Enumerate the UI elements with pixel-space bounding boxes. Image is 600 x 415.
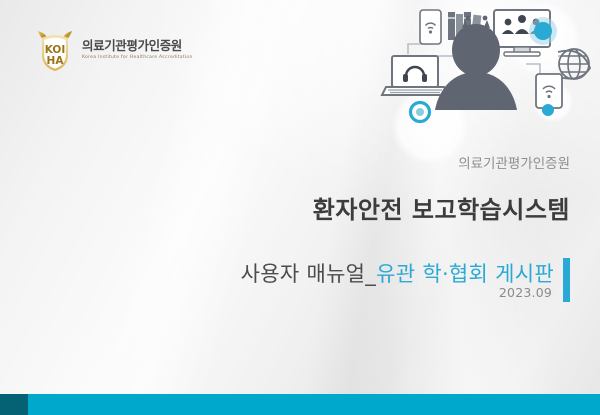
tablet-wifi-icon xyxy=(536,74,562,108)
manual-target: 유관 학·협회 게시판 xyxy=(376,262,554,286)
presentation-cover-slide: KOI HA 의료기관평가인증원 Korea Institute for Hea… xyxy=(0,0,600,415)
accent-bar xyxy=(563,258,570,302)
manual-heading: 사용자 매뉴얼_유관 학·협회 게시판 xyxy=(241,258,554,288)
connected-devices-illustration xyxy=(372,0,600,146)
logo-english-name: Korea Institute for Healthcare Accredita… xyxy=(82,55,193,61)
footer-bar xyxy=(0,394,600,415)
teal-dot-small xyxy=(542,104,554,116)
smartphone-wifi-icon xyxy=(420,10,441,44)
svg-text:HA: HA xyxy=(47,55,65,67)
teal-ring-left xyxy=(411,103,430,122)
hero-illustration xyxy=(372,0,600,146)
publish-date: 2023.09 xyxy=(499,285,552,300)
laptop-headphones-icon xyxy=(382,56,448,95)
koiha-logo: KOI HA 의료기관평가인증원 Korea Institute for Hea… xyxy=(36,28,193,72)
teal-dot-large xyxy=(529,17,557,45)
manual-label: 사용자 매뉴얼_ xyxy=(241,262,377,286)
koiha-shield-icon: KOI HA xyxy=(36,28,74,72)
logo-korean-name: 의료기관평가인증원 xyxy=(82,39,193,53)
footer-bar-cap xyxy=(0,394,28,415)
logo-wordmark: 의료기관평가인증원 Korea Institute for Healthcare… xyxy=(82,39,193,61)
organization-subtitle: 의료기관평가인증원 xyxy=(458,152,570,172)
page-title: 환자안전 보고학습시스템 xyxy=(313,190,570,225)
